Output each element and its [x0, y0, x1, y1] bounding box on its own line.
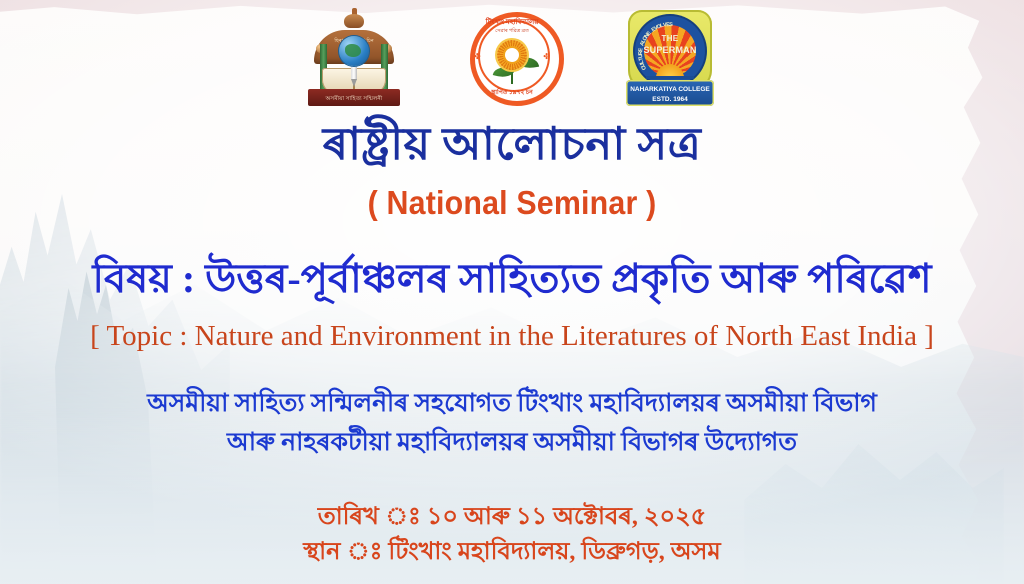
organisers-block: অসমীয়া সাহিত্য সন্মিলনীৰ সহযোগত টিংখাং …: [0, 385, 1024, 463]
organiser-line-2: আৰু নাহৰকটীয়া মহাবিদ্যালয়ৰ অসমীয়া বিভ…: [0, 424, 1024, 463]
college-motto-text: সেৱাৰ পৱিত্ৰ ব্ৰত: [470, 28, 554, 36]
seminar-topic-assamese: বিষয় : উত্তৰ-পূৰ্বাঞ্চলৰ সাহিত্যত প্ৰকৃ…: [0, 258, 1024, 300]
globe-icon: [339, 36, 369, 66]
asam-sahitya-sabha-logo: ছিৰাল লৰা লৰা চিন অসমীয়া সাহিত্য সন্মিল…: [306, 8, 402, 108]
organiser-line-1: অসমীয়া সাহিত্য সন্মিলনীৰ সহযোগত টিংখাং …: [0, 385, 1024, 424]
seminar-topic-english: [ Topic : Nature and Environment in the …: [0, 322, 1024, 351]
logo-row: ছিৰাল লৰা লৰা চিন অসমীয়া সাহিত্য সন্মিল…: [0, 8, 1024, 108]
seminar-poster: ছিৰাল লৰা লৰা চিন অসমীয়া সাহিত্য সন্মিল…: [0, 0, 1024, 584]
logo-base-text: অসমীয়া সাহিত্য সন্মিলনী: [306, 96, 402, 104]
seminar-title-assamese: ৰাষ্ট্ৰীয় আলোচনা সত্ৰ: [0, 122, 1024, 167]
event-venue-line: স্থান ঃ টিংখাং মহাবিদ্যালয়, ডিব্ৰুগড়, …: [0, 535, 1024, 570]
emblem-word-superman: SUPERMAN: [635, 45, 705, 55]
ribbon-college-name: NAHARKATIYA COLLEGE: [626, 86, 714, 93]
dome-shape-icon: [344, 14, 364, 28]
ornament-left-icon: ✤: [474, 52, 481, 61]
sunflower-core-icon: [505, 48, 519, 62]
event-details-block: তাৰিখ ঃ ১০ আৰু ১১ অক্টোবৰ, ২০২৫ স্থান ঃ …: [0, 500, 1024, 570]
poster-content: ছিৰাল লৰা লৰা চিন অসমীয়া সাহিত্য সন্মিল…: [0, 0, 1024, 584]
college-name-arc-text: টিংখাং মহাবিদ্যালয়: [470, 16, 554, 28]
established-year-text: স্থাপিত ১৯৭২ চন: [470, 87, 554, 98]
naharkatiya-college-logo: CULTURE ALONE EVOLVES THE SUPERMAN NAHAR…: [622, 8, 718, 108]
seminar-title-english: ( National Seminar ): [41, 186, 983, 219]
event-date-line: তাৰিখ ঃ ১০ আৰু ১১ অক্টোবৰ, ২০২৫: [0, 500, 1024, 535]
tingkhang-college-logo: টিংখাং মহাবিদ্যালয় সেৱাৰ পৱিত্ৰ ব্ৰত ✤ …: [464, 8, 560, 108]
ribbon-established-year: ESTD. 1964: [626, 96, 714, 103]
ornament-right-icon: ✤: [543, 52, 550, 61]
emblem-word-the: THE: [635, 34, 705, 43]
